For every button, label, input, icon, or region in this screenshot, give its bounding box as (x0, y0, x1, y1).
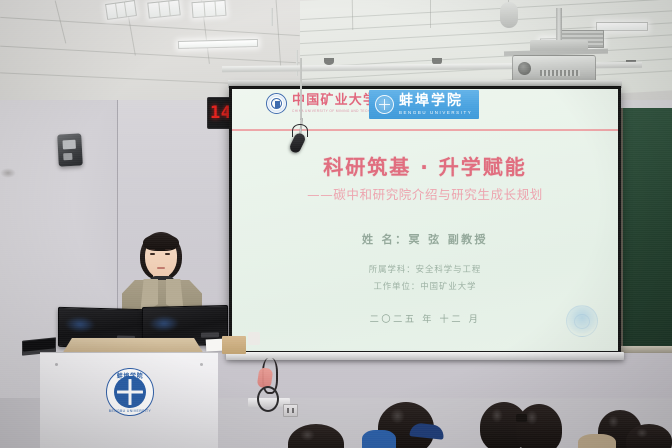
microphone-stand-rod (300, 58, 302, 120)
presenter-mouth (157, 267, 165, 269)
projector-lens-icon (518, 62, 531, 75)
lecture-hall-screenshot: 14: 中国矿业大学 CHINA UNIVERSITY OF MINING AN… (0, 0, 672, 448)
projection-screen-frame: 中国矿业大学 CHINA UNIVERSITY OF MINING AND TE… (229, 86, 621, 354)
ceiling-light-2 (147, 0, 180, 19)
presenter-eye-left (150, 253, 155, 255)
projector-pole (556, 8, 562, 42)
slide-date: 二〇二五 年 十二 月 (232, 311, 618, 325)
ceiling-speaker-1 (324, 58, 334, 65)
podium-emblem-en: BENGBU UNIVERSITY (107, 409, 153, 413)
ceiling-hang-rod-1 (271, 8, 273, 26)
bengbu-name-en: BENGBU UNIVERSITY (399, 110, 472, 115)
hanging-cable-loop (257, 386, 279, 412)
podium-box (222, 336, 246, 354)
projector-vent (540, 70, 580, 76)
slide-meta: 所属学科：安全科学与工程 工作单位：中国矿业大学 (232, 261, 618, 295)
podium-university-emblem: 蚌埠学院 BENGBU UNIVERSITY (106, 368, 154, 416)
thin-ceiling-rod (296, 20, 298, 60)
ceiling-fixture (500, 2, 518, 28)
wall-smudge (0, 168, 16, 178)
slide-logo-bar: 中国矿业大学 CHINA UNIVERSITY OF MINING AND TE… (232, 89, 618, 127)
slide-affiliation: 工作单位：中国矿业大学 (232, 278, 618, 295)
slide-speaker-line: 姓 名：冥 弦 副教授 (232, 231, 618, 247)
wall-mounted-device (57, 133, 83, 166)
slide-discipline: 所属学科：安全科学与工程 (232, 261, 618, 278)
green-chalkboard (620, 108, 672, 348)
bengbu-seal-icon (375, 95, 394, 114)
ceiling-light-3 (191, 0, 226, 18)
projection-screen-bottom-bar (226, 352, 624, 360)
slide-subtitle: ——碳中和研究院介绍与研究生成长规划 (232, 184, 618, 203)
ceiling-light-1 (105, 0, 137, 20)
slide-watermark-icon (566, 305, 598, 337)
student-shoulder-tan (578, 434, 616, 448)
podium-screw-right (200, 363, 203, 366)
cumt-seal-icon (266, 93, 287, 114)
chalkboard-tray (618, 346, 672, 353)
podium-seam (40, 352, 218, 353)
student-head-4 (516, 404, 562, 448)
power-socket (283, 404, 298, 417)
projected-slide: 中国矿业大学 CHINA UNIVERSITY OF MINING AND TE… (232, 89, 618, 351)
student-shoulder-blue (362, 430, 396, 448)
student-hair-clip-icon (516, 414, 527, 422)
podium-screw-left (55, 363, 58, 366)
podium-mug (248, 332, 260, 345)
presenter-eye-right (165, 253, 170, 255)
bengbu-university-banner: 蚌埠学院 BENGBU UNIVERSITY (369, 90, 479, 119)
ceiling-light-4 (178, 39, 258, 49)
slide-title: 科研筑基 · 升学赋能 (232, 151, 618, 180)
bengbu-name-cn: 蚌埠学院 (399, 94, 472, 109)
slide-divider-rule (232, 129, 618, 131)
